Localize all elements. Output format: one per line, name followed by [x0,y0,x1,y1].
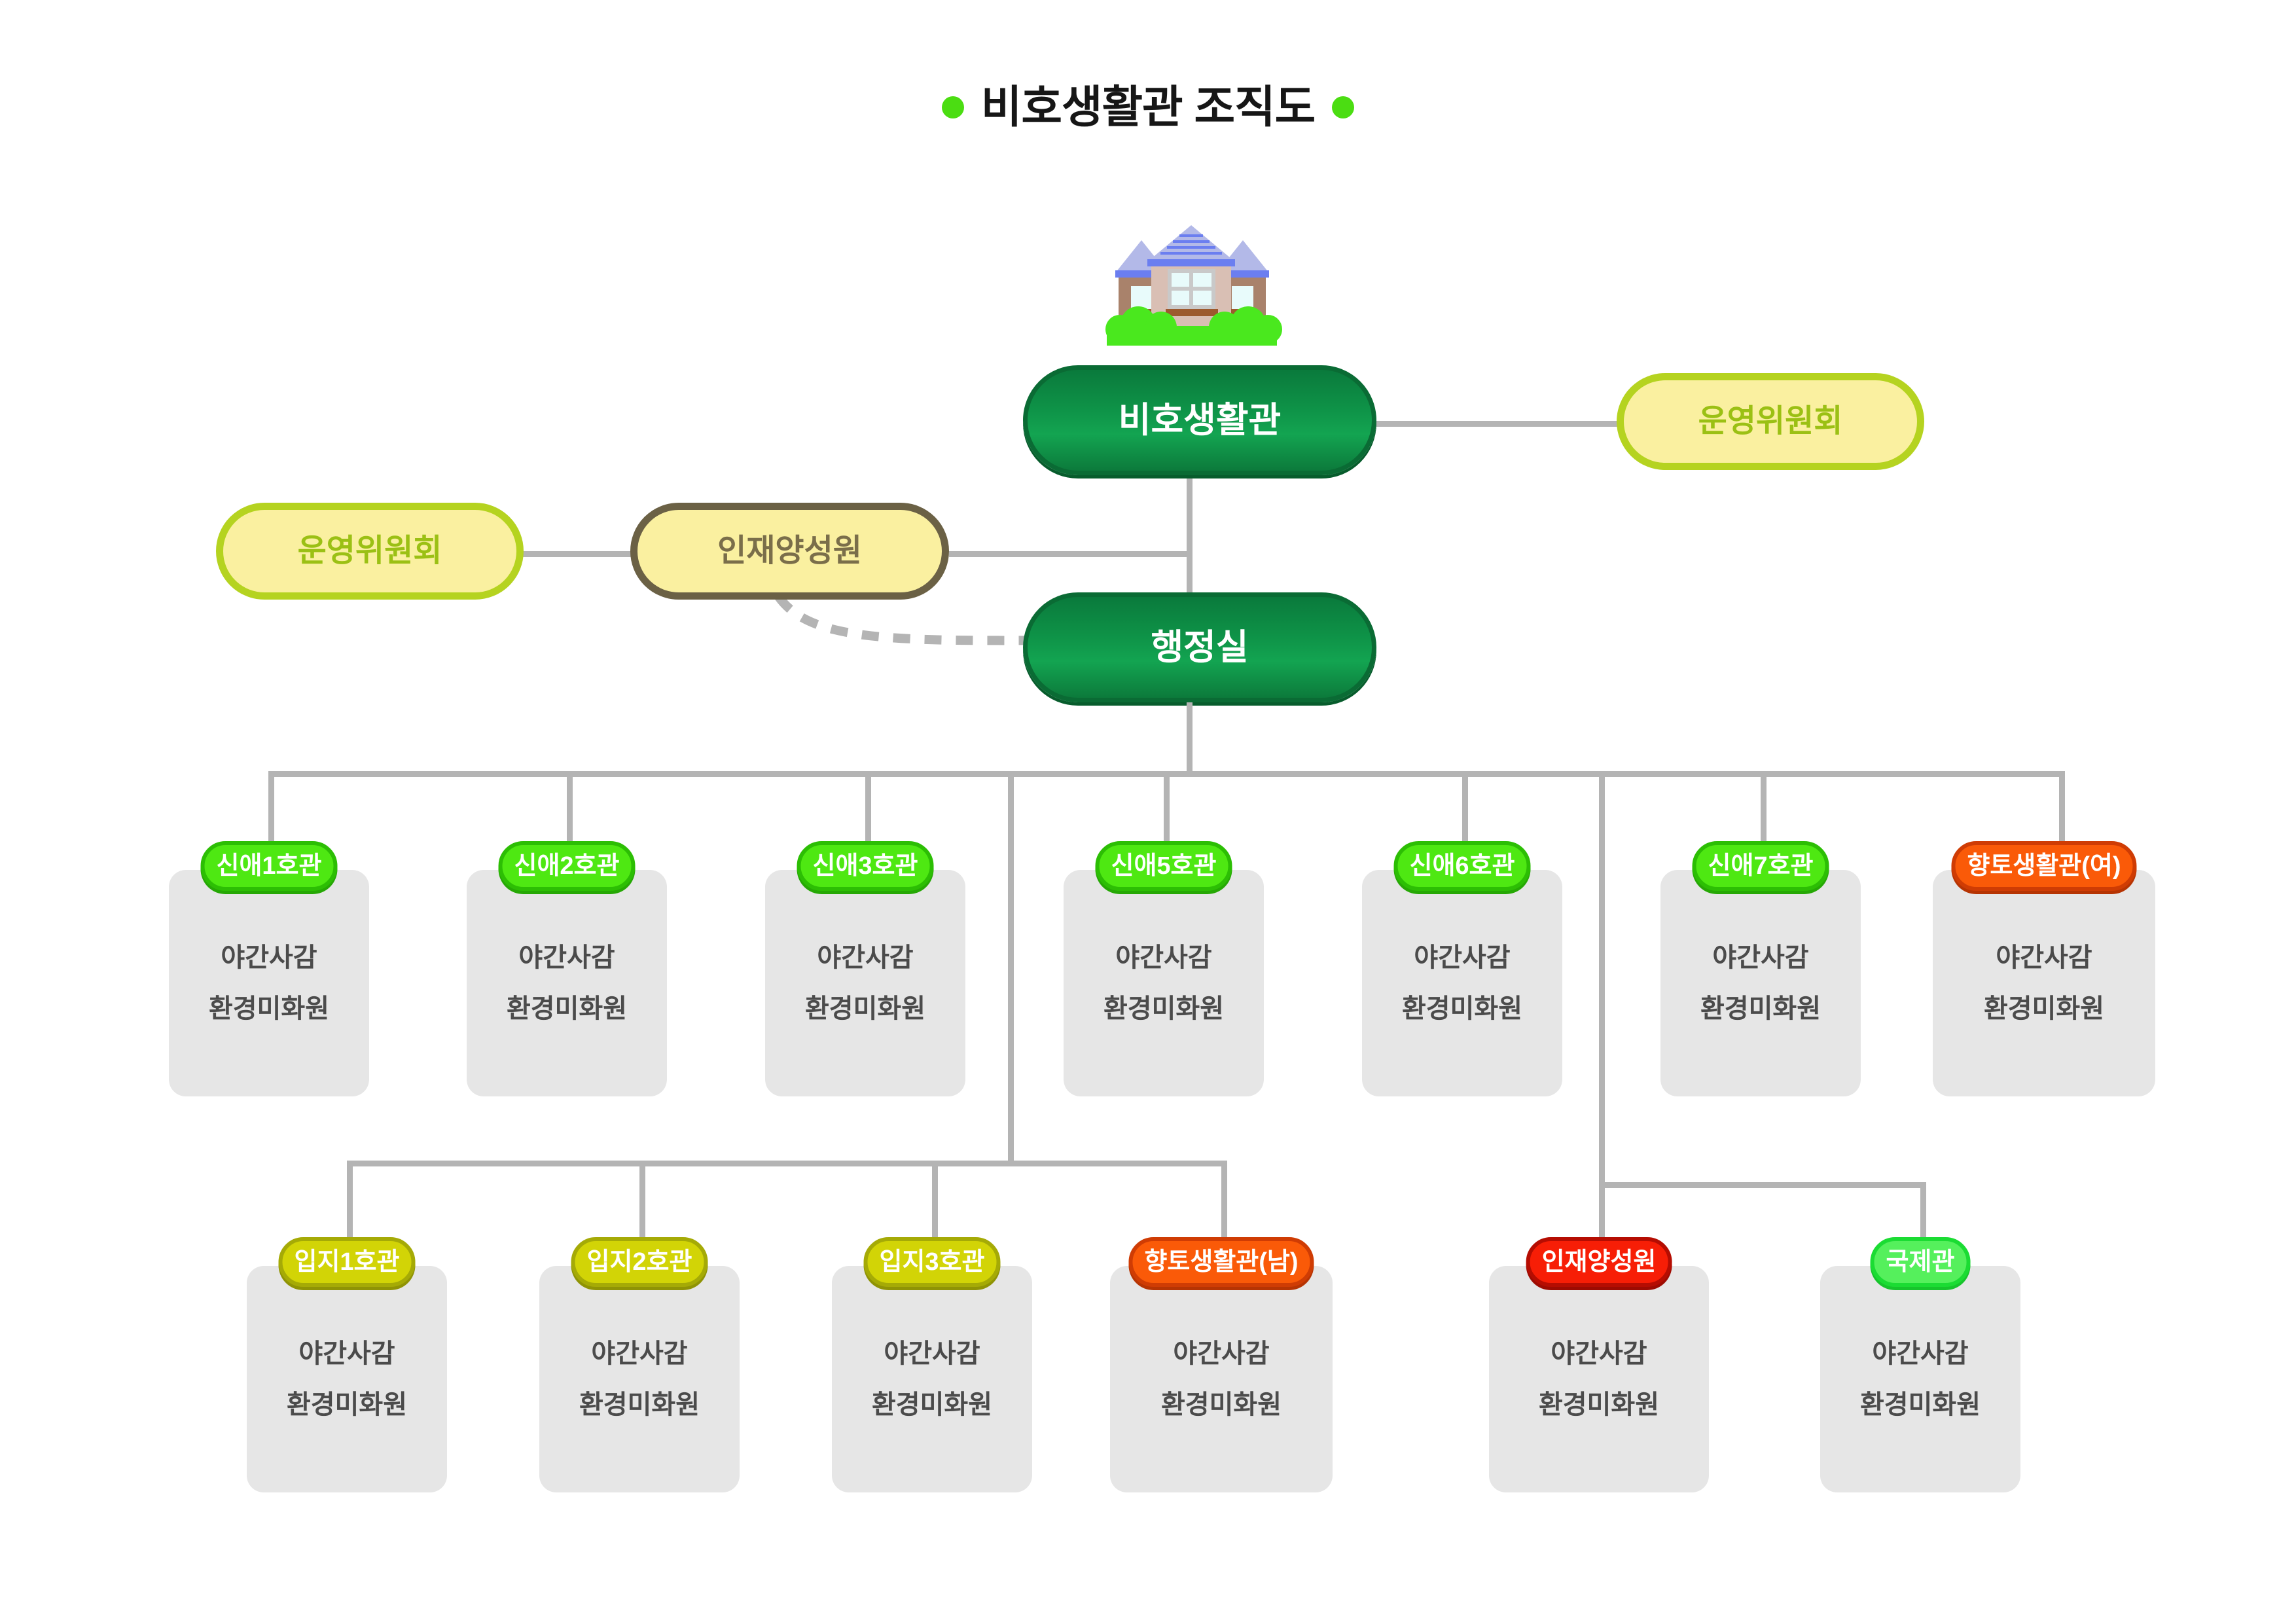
card-gukje[interactable]: 야간사감 환경미화원 국제관 [1820,1244,2020,1492]
card-body: 야간사감 환경미화원 [1362,870,1562,1096]
staff-line-2: 환경미화원 [1860,1392,1981,1418]
staff-line-1: 야간사감 [1712,945,1808,971]
card-sinae-5[interactable]: 야간사감 환경미화원 신애5호관 [1064,848,1264,1096]
card-header-label: 국제관 [1886,1250,1955,1274]
card-hyangto-female[interactable]: 야간사감 환경미화원 향토생활관(여) [1933,848,2155,1096]
card-sinae-2[interactable]: 야간사감 환경미화원 신애2호관 [467,848,667,1096]
connector-row4-left-bus [347,1161,1227,1166]
staff-line-1: 야간사감 [1173,1341,1269,1367]
staff-line-1: 야간사감 [591,1341,687,1367]
staff-line-1: 야간사감 [221,945,317,971]
card-header-label: 신애3호관 [813,854,918,878]
connector-admin-trunk [1187,702,1193,774]
node-left-operating-committee[interactable]: 운영위원회 [216,503,524,600]
staff-line-2: 환경미화원 [872,1392,992,1418]
page-title-bar: 비호생활관 조직도 [0,85,2296,130]
card-header-label: 신애2호관 [514,854,620,878]
staff-line-2: 환경미화원 [287,1392,407,1418]
node-talent-center[interactable]: 인재양성원 [630,503,949,600]
card-header-ipji-1[interactable]: 입지1호관 [279,1237,416,1287]
staff-line-1: 야간사감 [298,1341,395,1367]
staff-line-2: 환경미화원 [1402,996,1522,1022]
card-header-label: 신애5호관 [1111,854,1217,878]
card-sinae-6[interactable]: 야간사감 환경미화원 신애6호관 [1362,848,1562,1096]
card-ipji-1[interactable]: 야간사감 환경미화원 입지1호관 [247,1244,447,1492]
node-admin-office[interactable]: 행정실 [1023,592,1376,702]
card-header-label: 입지1호관 [295,1250,400,1274]
card-header-ipji-3[interactable]: 입지3호관 [864,1237,1001,1287]
connector-talent-to-admin [949,551,1190,557]
card-body: 야간사감 환경미화원 [765,870,965,1096]
connector-row4-right-spine [1599,771,1605,1182]
connector-root-to-right-committee [1370,421,1620,427]
node-root-label: 비호생활관 [1119,403,1281,438]
staff-line-2: 환경미화원 [1161,1392,1282,1418]
staff-line-2: 환경미화원 [507,996,627,1022]
node-right-committee-label: 운영위원회 [1698,406,1843,437]
card-header-label: 향토생활관(남) [1144,1250,1298,1274]
card-body: 야간사감 환경미화원 [1933,870,2155,1096]
card-body: 야간사감 환경미화원 [1489,1266,1709,1492]
page-title: 비호생활관 조직도 [981,85,1315,130]
card-header-hyangto-female[interactable]: 향토생활관(여) [1951,841,2136,891]
connector-row4-right-bus [1599,1182,1926,1188]
connector-root-to-admin [1187,475,1193,599]
card-header-talent-center[interactable]: 인재양성원 [1526,1237,1672,1287]
staff-line-2: 환경미화원 [1984,996,2104,1022]
connector-left-committee-to-talent [517,551,635,557]
node-admin-label: 행정실 [1151,630,1248,665]
card-sinae-3[interactable]: 야간사감 환경미화원 신애3호관 [765,848,965,1096]
card-header-label: 입지3호관 [880,1250,985,1274]
staff-line-2: 환경미화원 [805,996,925,1022]
card-header-sinae-1[interactable]: 신애1호관 [201,841,338,891]
card-header-label: 신애6호관 [1410,854,1515,878]
card-body: 야간사감 환경미화원 [1820,1266,2020,1492]
staff-line-2: 환경미화원 [209,996,329,1022]
node-talent-center-label: 인재양성원 [717,535,862,567]
card-header-gukje[interactable]: 국제관 [1871,1237,1971,1287]
card-header-label: 신애1호관 [217,854,322,878]
card-header-sinae-3[interactable]: 신애3호관 [797,841,934,891]
staff-line-1: 야간사감 [1414,945,1510,971]
staff-line-1: 야간사감 [1996,945,2092,971]
title-dot-left-icon [942,96,964,118]
connector-row4-left-spine [1008,771,1014,1161]
card-header-label: 인재양성원 [1542,1250,1657,1274]
node-left-committee-label: 운영위원회 [298,535,442,567]
node-root-biho[interactable]: 비호생활관 [1023,365,1376,475]
card-sinae-7[interactable]: 야간사감 환경미화원 신애7호관 [1660,848,1861,1096]
card-talent-center[interactable]: 야간사감 환경미화원 인재양성원 [1489,1244,1709,1492]
staff-line-1: 야간사감 [1551,1341,1647,1367]
card-body: 야간사감 환경미화원 [1064,870,1264,1096]
staff-line-1: 야간사감 [518,945,615,971]
card-header-sinae-2[interactable]: 신애2호관 [499,841,636,891]
card-body: 야간사감 환경미화원 [1110,1266,1333,1492]
card-header-label: 신애7호관 [1708,854,1814,878]
card-body: 야간사감 환경미화원 [247,1266,447,1492]
card-hyangto-male[interactable]: 야간사감 환경미화원 향토생활관(남) [1110,1244,1333,1492]
card-header-sinae-6[interactable]: 신애6호관 [1394,841,1531,891]
staff-line-1: 야간사감 [1872,1341,1968,1367]
card-header-label: 향토생활관(여) [1967,854,2121,878]
card-header-sinae-5[interactable]: 신애5호관 [1096,841,1232,891]
card-header-label: 입지2호관 [587,1250,692,1274]
card-header-hyangto-male[interactable]: 향토생활관(남) [1128,1237,1314,1287]
card-header-sinae-7[interactable]: 신애7호관 [1693,841,1829,891]
staff-line-1: 야간사감 [884,1341,980,1367]
card-ipji-3[interactable]: 야간사감 환경미화원 입지3호관 [832,1244,1032,1492]
card-body: 야간사감 환경미화원 [832,1266,1032,1492]
card-body: 야간사감 환경미화원 [467,870,667,1096]
card-body: 야간사감 환경미화원 [539,1266,740,1492]
card-ipji-2[interactable]: 야간사감 환경미화원 입지2호관 [539,1244,740,1492]
staff-line-2: 환경미화원 [1539,1392,1659,1418]
card-sinae-1[interactable]: 야간사감 환경미화원 신애1호관 [169,848,369,1096]
title-dot-right-icon [1332,96,1354,118]
staff-line-1: 야간사감 [1115,945,1211,971]
staff-line-2: 환경미화원 [1103,996,1224,1022]
building-house-icon [1094,225,1290,365]
staff-line-1: 야간사감 [817,945,913,971]
staff-line-2: 환경미화원 [1700,996,1821,1022]
card-header-ipji-2[interactable]: 입지2호관 [571,1237,708,1287]
card-body: 야간사감 환경미화원 [1660,870,1861,1096]
card-body: 야간사감 환경미화원 [169,870,369,1096]
org-chart-canvas: 비호생활관 조직도 [0,0,2296,1624]
staff-line-2: 환경미화원 [579,1392,700,1418]
node-right-operating-committee[interactable]: 운영위원회 [1617,373,1924,470]
